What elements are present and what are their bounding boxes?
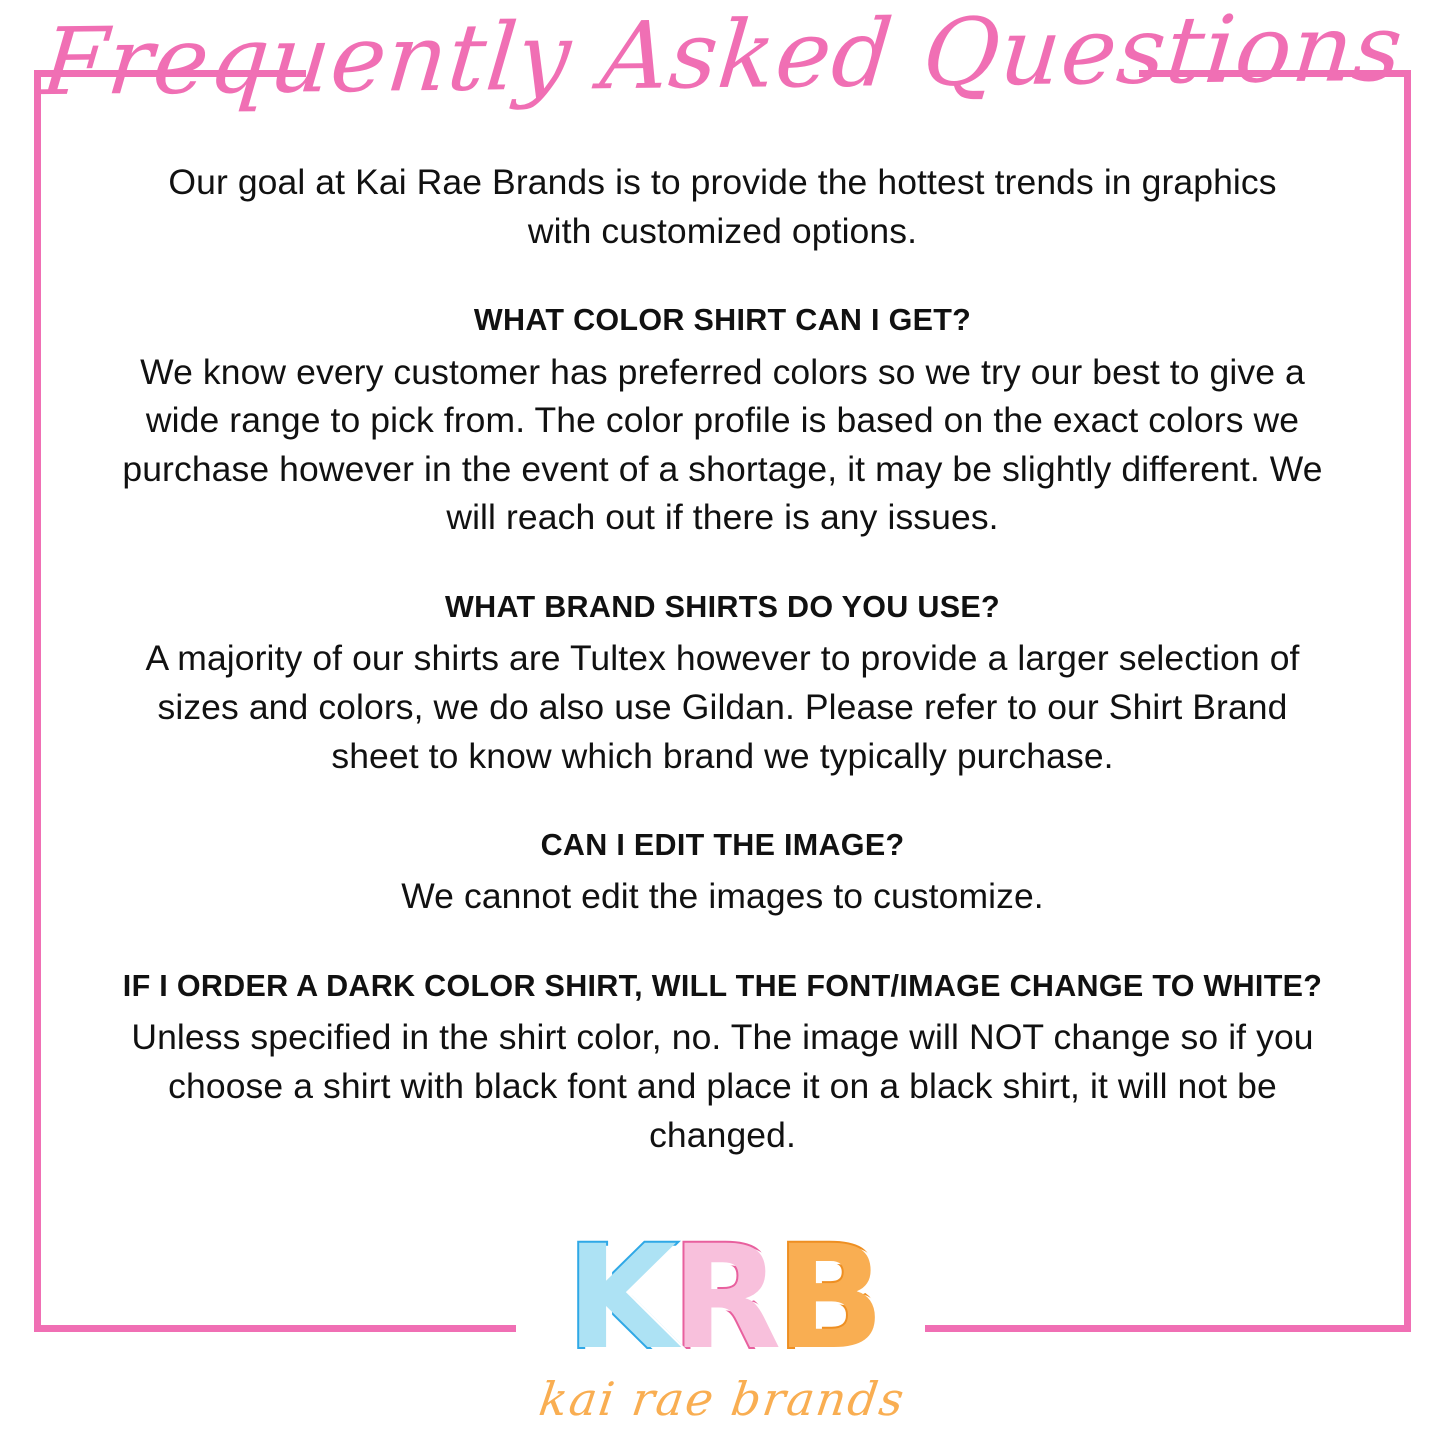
faq-question-3: CAN I EDIT THE IMAGE? xyxy=(105,825,1340,865)
logo-letter-r: R xyxy=(671,1232,775,1364)
faq-answer-4: Unless specified in the shirt color, no.… xyxy=(105,1013,1340,1159)
frame-line-right xyxy=(1404,70,1411,1332)
faq-answer-3: We cannot edit the images to customize. xyxy=(105,872,1340,921)
faq-answer-2: A majority of our shirts are Tultex howe… xyxy=(105,634,1340,780)
faq-item-2: WHAT BRAND SHIRTS DO YOU USE? A majority… xyxy=(105,587,1340,780)
page-title: Frequently Asked Questions xyxy=(0,0,1445,110)
logo-letter-b: B xyxy=(776,1232,879,1364)
faq-item-3: CAN I EDIT THE IMAGE? We cannot edit the… xyxy=(105,825,1340,921)
faq-item-4: IF I ORDER A DARK COLOR SHIRT, WILL THE … xyxy=(105,966,1340,1159)
faq-graphic: Frequently Asked Questions Our goal at K… xyxy=(0,0,1445,1445)
faq-answer-1: We know every customer has preferred col… xyxy=(105,348,1340,543)
frame-line-left xyxy=(34,70,41,1332)
faq-question-1: WHAT COLOR SHIRT CAN I GET? xyxy=(105,300,1340,340)
faq-question-4: IF I ORDER A DARK COLOR SHIRT, WILL THE … xyxy=(105,966,1340,1006)
logo-letter-k: K xyxy=(566,1232,671,1364)
faq-item-1: WHAT COLOR SHIRT CAN I GET? We know ever… xyxy=(105,300,1340,542)
logo-letters: K R B xyxy=(566,1232,879,1364)
faq-question-2: WHAT BRAND SHIRTS DO YOU USE? xyxy=(105,587,1340,627)
intro-paragraph: Our goal at Kai Rae Brands is to provide… xyxy=(105,158,1340,255)
brand-logo: K R B kai rae brands xyxy=(0,1232,1445,1426)
faq-content: Our goal at Kai Rae Brands is to provide… xyxy=(105,158,1340,1159)
